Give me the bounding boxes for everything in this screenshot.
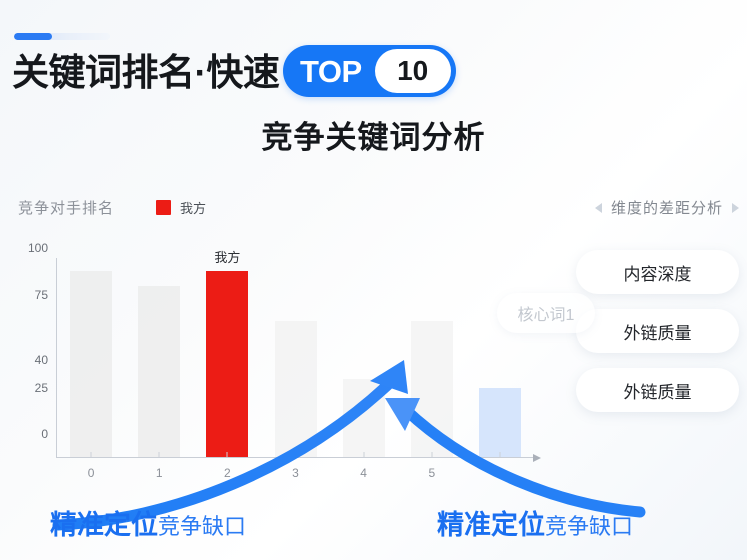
- y-axis-tick-label: 0: [12, 427, 48, 441]
- chart-bar: [479, 388, 521, 457]
- x-axis-line: [56, 457, 534, 458]
- x-axis-tick-label: 5: [497, 466, 504, 480]
- annotation-left-strong: 精准定位: [50, 503, 158, 542]
- dimension-card-list: 内容深度 外链质量 外链质量: [576, 250, 739, 412]
- x-axis-tick-mark: [91, 452, 92, 457]
- chevron-right-icon[interactable]: [732, 203, 739, 213]
- y-axis-tick-label: 75: [12, 288, 48, 302]
- x-axis-tick-label: 3: [292, 466, 299, 480]
- header: 关键词排名·快速: [12, 44, 279, 100]
- annotation-right-light: 竞争缺口: [545, 509, 633, 541]
- chart-bar: [343, 379, 385, 457]
- legend-swatch-icon: [156, 200, 171, 215]
- y-axis-tick-label: 25: [12, 381, 48, 395]
- x-axis-tick-mark: [227, 452, 228, 457]
- chart-legend-title: 竞争对手排名: [18, 197, 114, 218]
- dimension-card[interactable]: 外链质量: [576, 309, 739, 353]
- chevron-left-icon[interactable]: [595, 203, 602, 213]
- annotation-right: 精准定位 竞争缺口: [437, 503, 633, 542]
- top-badge-value: 10: [375, 49, 451, 93]
- chart-bar: [70, 271, 112, 457]
- x-axis-tick-mark: [295, 452, 296, 457]
- chart-bar: [411, 321, 453, 457]
- dimension-card[interactable]: 外链质量: [576, 368, 739, 412]
- legend-item-label: 我方: [180, 198, 206, 217]
- annotation-left-light: 竞争缺口: [158, 509, 246, 541]
- chart-bar: [138, 286, 180, 457]
- page-title: 关键词排名·快速: [12, 54, 279, 91]
- legend-item-ours: 我方: [156, 198, 206, 217]
- chart-bar-highlight-label: 我方: [214, 247, 240, 266]
- chart-bar: [206, 271, 248, 457]
- x-axis-tick-label: 5: [428, 466, 435, 480]
- x-axis-tick-label: 4: [360, 466, 367, 480]
- x-axis-tick-mark: [363, 452, 364, 457]
- x-axis-tick-label: 0: [88, 466, 95, 480]
- annotation-right-strong: 精准定位: [437, 503, 545, 542]
- chart-plot-area: 012我方3455: [57, 271, 534, 457]
- progress-bar-track: [14, 33, 110, 40]
- panel-title: 维度的差距分析: [611, 197, 723, 218]
- x-axis-tick-mark: [431, 452, 432, 457]
- bar-chart: 1007540250 012我方3455: [12, 248, 542, 458]
- x-axis-tick-mark: [499, 452, 500, 457]
- chart-bar: [275, 321, 317, 457]
- panel-header: 维度的差距分析: [595, 197, 739, 218]
- x-axis-tick-label: 2: [224, 466, 231, 480]
- annotation-left: 精准定位 竞争缺口: [50, 503, 246, 542]
- page-subtitle: 竞争关键词分析: [0, 112, 747, 157]
- x-axis-arrow-icon: [533, 454, 541, 462]
- progress-bar-fill: [14, 33, 52, 40]
- y-axis-tick-label: 100: [12, 241, 48, 255]
- x-axis-tick-label: 1: [156, 466, 163, 480]
- x-axis-tick-mark: [159, 452, 160, 457]
- top-rank-badge: TOP 10: [283, 45, 456, 97]
- dimension-card[interactable]: 内容深度: [576, 250, 739, 294]
- y-axis-tick-label: 40: [12, 353, 48, 367]
- top-badge-label: TOP: [300, 56, 362, 87]
- chart-legend: 竞争对手排名 我方: [18, 197, 206, 218]
